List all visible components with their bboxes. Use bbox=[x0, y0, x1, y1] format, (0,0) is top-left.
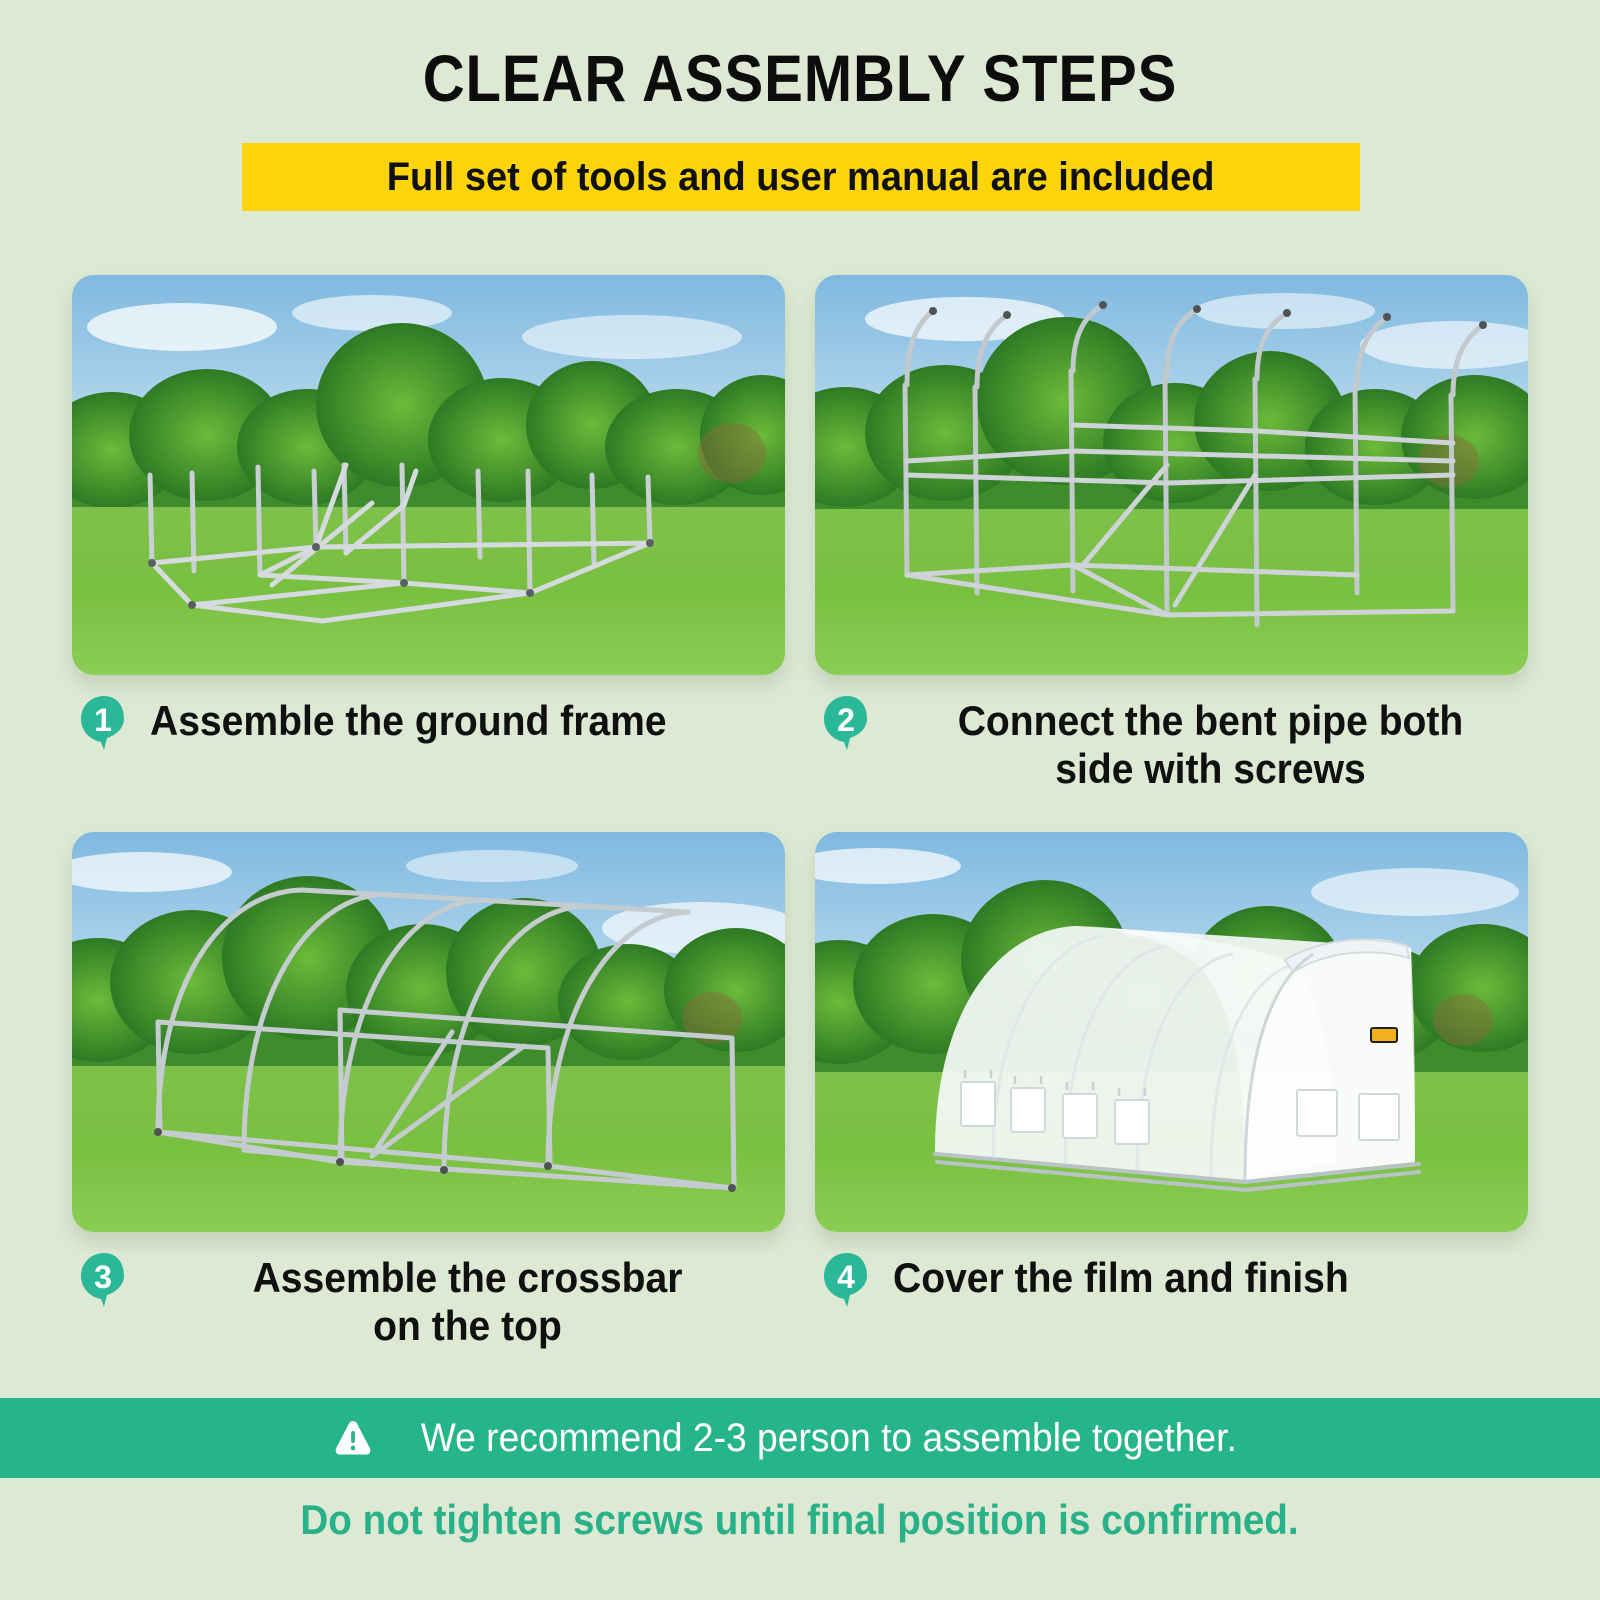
svg-text:2: 2 bbox=[837, 702, 855, 738]
step-3: 3 Assemble the crossbar on the top bbox=[72, 832, 785, 1350]
step-2: 2 Connect the bent pipe both side with s… bbox=[815, 275, 1528, 793]
step-number-badge-3: 3 bbox=[80, 1252, 128, 1308]
highlight-banner-text: Full set of tools and user manual are in… bbox=[387, 155, 1215, 199]
bent-pipe-photo bbox=[815, 275, 1528, 675]
highlight-banner: Full set of tools and user manual are in… bbox=[242, 143, 1360, 211]
step-number-badge-2: 2 bbox=[823, 695, 871, 751]
footnote: Do not tighten screws until final positi… bbox=[0, 1496, 1600, 1544]
recommendation-banner: We recommend 2-3 person to assemble toge… bbox=[0, 1398, 1600, 1478]
ground-frame-photo bbox=[72, 275, 785, 675]
step-2-label: Connect the bent pipe both side with scr… bbox=[915, 697, 1506, 793]
warning-triangle-icon bbox=[334, 1418, 373, 1458]
step-4-label: Cover the film and finish bbox=[893, 1254, 1484, 1302]
step-2-caption: 2 Connect the bent pipe both side with s… bbox=[815, 697, 1528, 793]
recommendation-text: We recommend 2-3 person to assemble toge… bbox=[421, 1416, 1237, 1460]
page-title: CLEAR ASSEMBLY STEPS bbox=[96, 42, 1504, 114]
svg-text:3: 3 bbox=[94, 1259, 112, 1295]
finished-greenhouse-photo bbox=[815, 832, 1528, 1232]
step-1: 1 Assemble the ground frame bbox=[72, 275, 785, 749]
step-4: 4 Cover the film and finish bbox=[815, 832, 1528, 1306]
svg-text:4: 4 bbox=[837, 1259, 855, 1295]
svg-text:1: 1 bbox=[94, 702, 112, 738]
footnote-text: Do not tighten screws until final positi… bbox=[301, 1496, 1299, 1544]
step-1-caption: 1 Assemble the ground frame bbox=[72, 697, 785, 749]
crossbar-photo bbox=[72, 832, 785, 1232]
step-4-caption: 4 Cover the film and finish bbox=[815, 1254, 1528, 1306]
step-3-caption: 3 Assemble the crossbar on the top bbox=[72, 1254, 785, 1350]
step-number-badge-1: 1 bbox=[80, 695, 128, 751]
step-1-label: Assemble the ground frame bbox=[150, 697, 741, 745]
infographic-page: CLEAR ASSEMBLY STEPS Full set of tools a… bbox=[0, 0, 1600, 1600]
step-number-badge-4: 4 bbox=[823, 1252, 871, 1308]
step-3-label: Assemble the crossbar on the top bbox=[172, 1254, 763, 1350]
